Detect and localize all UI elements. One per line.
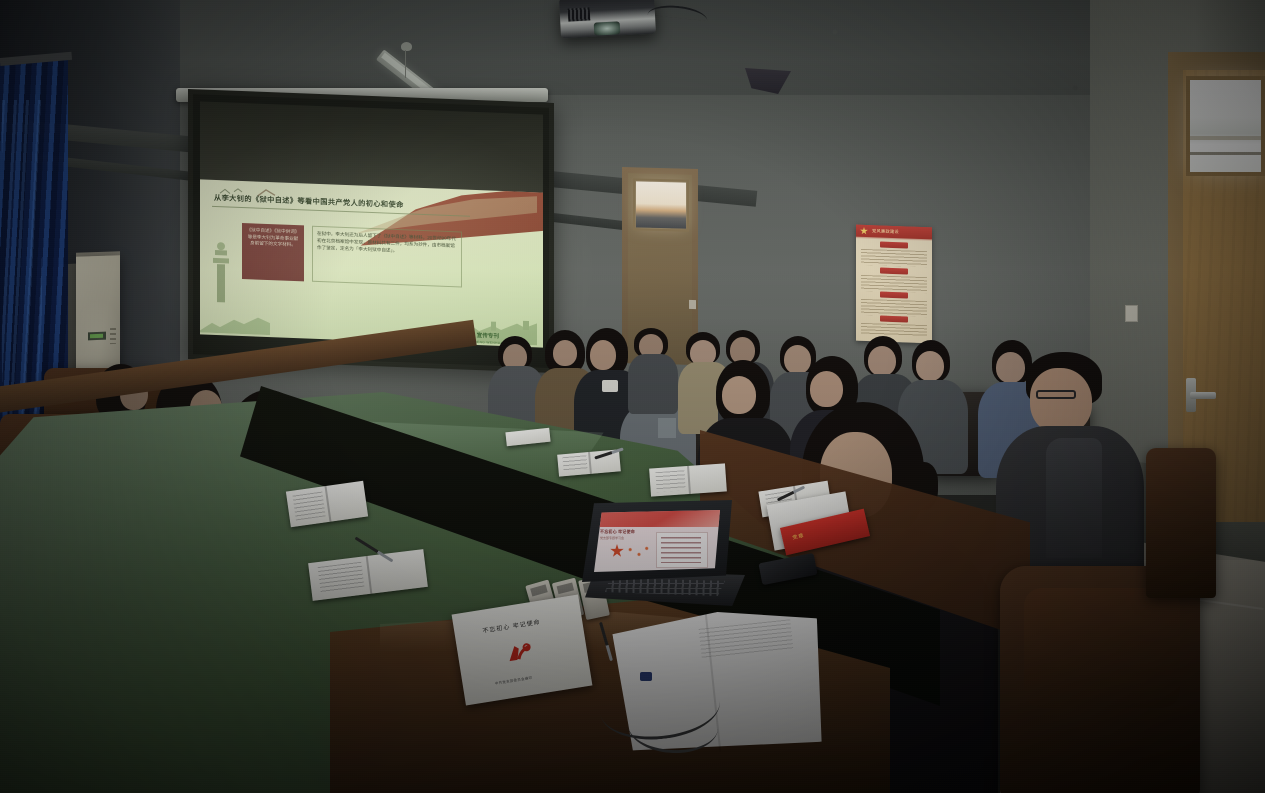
slide-body-text: 在狱中，李大钊还为后人留下了《狱中自述》等材料。20世纪80年代初在北京档案馆中… <box>317 231 457 257</box>
projected-slide: 从李大钊的《狱中自述》等看中国共产党人的初心和使命 《狱中自述》《狱中供词》等是… <box>200 179 543 347</box>
slide-body-box: 在狱中，李大钊还为后人留下了《狱中自述》等材料。20世纪80年代初在北京档案馆中… <box>312 226 462 288</box>
eyeglasses-icon <box>1036 390 1076 399</box>
wall-poster: 党风廉政建设 <box>856 225 932 344</box>
power-outlet-icon[interactable] <box>1125 305 1138 322</box>
laptop-screen[interactable]: 不忘初心 牢记使命 党支部专题学习会 <box>594 510 720 572</box>
slide-great-wall-art-left <box>200 306 270 335</box>
chair[interactable] <box>1146 448 1216 598</box>
slide-footer-logo: 宣传专刊 <box>477 331 499 340</box>
laptop-slide-textbox <box>656 532 708 568</box>
slide-birds-icon <box>218 185 288 204</box>
ceiling-hook-icon <box>401 42 412 51</box>
poster-body-lines-2 <box>861 275 927 293</box>
poster-section-2 <box>880 268 908 275</box>
poster-section-4 <box>880 316 908 323</box>
notebook[interactable] <box>649 463 727 496</box>
projector-lens-icon <box>594 21 621 35</box>
laptop-slide-title: 不忘初心 牢记使命 <box>600 529 635 535</box>
interior-door-window-frame <box>633 178 689 231</box>
slide-red-callout-text: 《狱中自述》《狱中供词》等是李大钊为革命事业献身前留下的文字材料。 <box>246 227 300 249</box>
projector-vent <box>568 7 591 21</box>
laptop-slide-subtitle: 党支部专题学习会 <box>600 536 624 540</box>
poster-body-lines-1 <box>861 249 927 267</box>
document-title: 不忘初心 牢记使命 <box>482 617 541 635</box>
transom-frame <box>1186 76 1265 176</box>
door-handle-icon[interactable] <box>1190 392 1216 399</box>
slide-red-callout-box: 《狱中自述》《狱中供词》等是李大钊为革命事业献身前留下的文字材料。 <box>242 223 304 281</box>
red-booklet-title: 党章 <box>792 532 805 542</box>
ceiling-hook-wire <box>405 50 406 78</box>
poster-header-text: 党风廉政建设 <box>872 228 899 235</box>
star-icon <box>610 544 624 558</box>
party-emblem-icon <box>505 641 534 665</box>
slide-pagoda-art <box>208 238 234 305</box>
laptop-slide-textlines <box>661 537 701 563</box>
poster-section-3 <box>880 292 908 299</box>
cable-clip <box>640 672 652 681</box>
meeting-room-photo: 从李大钊的《狱中自述》等看中国共产党人的初心和使命 《狱中自述》《狱中供词》等是… <box>0 0 1265 793</box>
poster-section-1 <box>880 242 908 249</box>
laptop-slide-header <box>594 510 720 527</box>
laptop-slide-dots <box>628 546 650 558</box>
poster-body-lines-4 <box>861 323 927 337</box>
document-footer: 中共党支部委员会编印 <box>494 675 532 686</box>
chair-backrest <box>1024 588 1180 708</box>
light-switch-icon[interactable] <box>689 300 696 309</box>
poster-body-lines-3 <box>861 299 927 317</box>
